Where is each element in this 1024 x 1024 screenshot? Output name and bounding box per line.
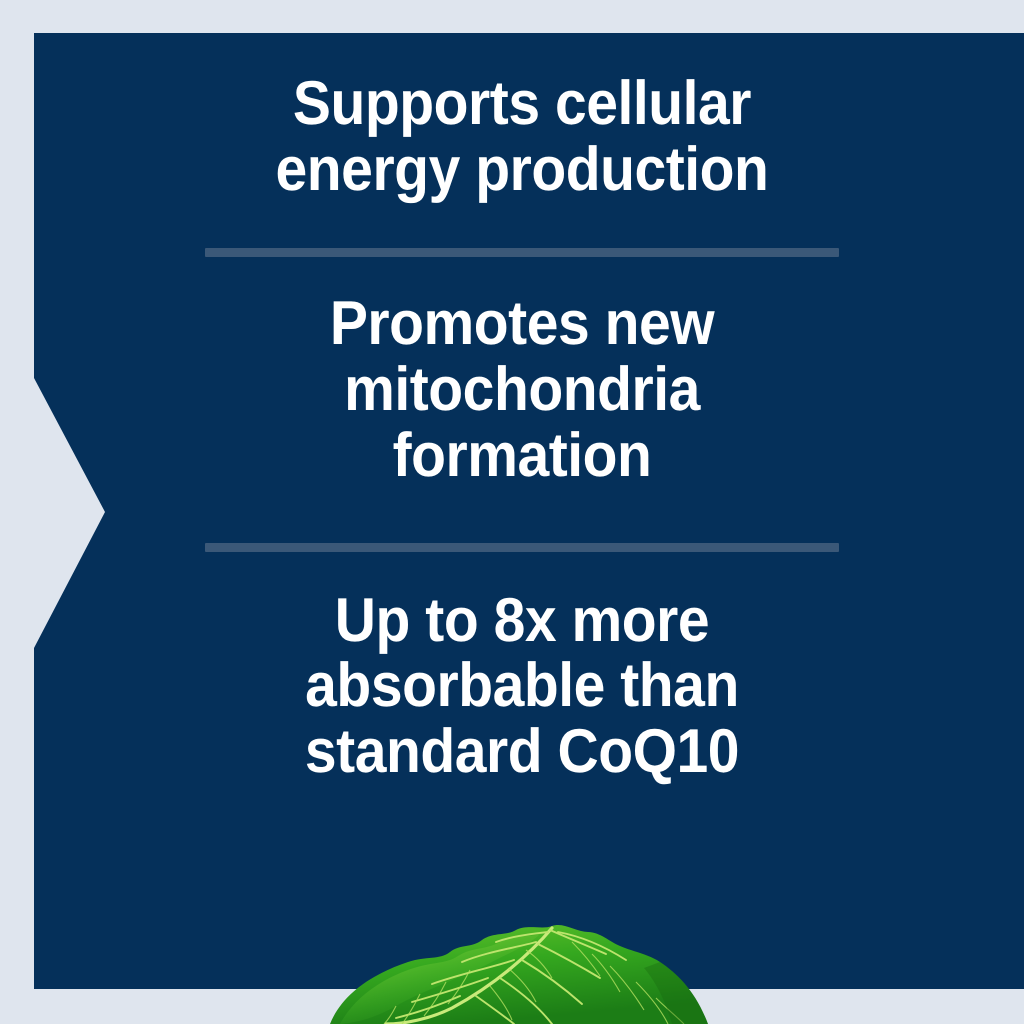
product-benefits-graphic: Supports cellular energy production Prom…	[0, 0, 1024, 1024]
benefit-item-absorbability: Up to 8x more absorbable than standard C…	[230, 588, 813, 785]
benefit-divider-2	[205, 543, 839, 552]
benefit-item-mitochondria-formation: Promotes new mitochondria formation	[230, 291, 813, 488]
benefit-item-cellular-energy: Supports cellular energy production	[230, 71, 813, 202]
benefit-divider-1	[205, 248, 839, 257]
benefits-content: Supports cellular energy production Prom…	[205, 33, 839, 989]
